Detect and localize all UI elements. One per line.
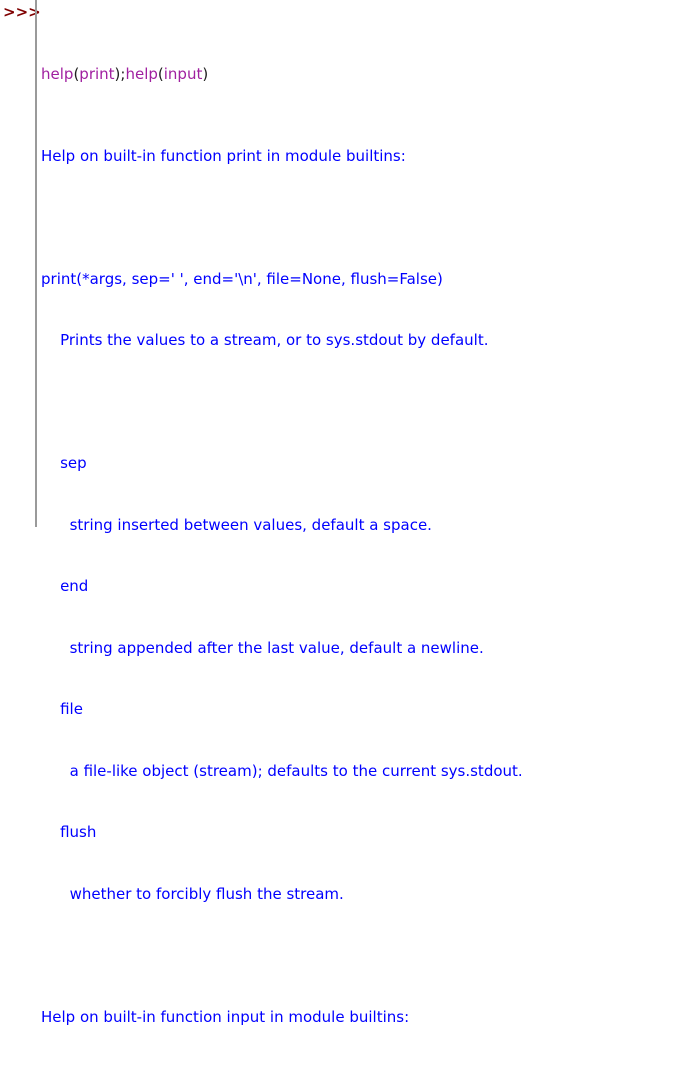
output-line: sep <box>41 453 697 474</box>
output-line: Help on built-in function input in modul… <box>41 1007 697 1028</box>
input-line-paren-close: ) <box>202 65 208 83</box>
output-line: whether to forcibly flush the stream. <box>41 884 697 905</box>
input-line-close-semi: ); <box>115 65 126 83</box>
output-line <box>41 392 697 413</box>
prompt-gutter: >>> <box>0 0 35 536</box>
output-line <box>41 945 697 966</box>
python-shell-window[interactable]: >>> help(print);help(input) Help on buil… <box>0 0 697 536</box>
input-line-help-2: help <box>125 65 157 83</box>
output-line: file <box>41 699 697 720</box>
input-line-input: input <box>164 65 203 83</box>
input-line-print: print <box>79 65 114 83</box>
output-line <box>41 1068 697 1072</box>
output-line <box>41 207 697 228</box>
gutter-separator-rule <box>35 0 37 527</box>
output-line: Help on built-in function print in modul… <box>41 146 697 167</box>
shell-transcript[interactable]: help(print);help(input) Help on built-in… <box>41 2 697 1072</box>
input-line[interactable]: help(print);help(input) <box>41 64 697 85</box>
output-line: string inserted between values, default … <box>41 515 697 536</box>
output-line: end <box>41 576 697 597</box>
output-line: flush <box>41 822 697 843</box>
output-line: Prints the values to a stream, or to sys… <box>41 330 697 351</box>
output-line: a file-like object (stream); defaults to… <box>41 761 697 782</box>
input-line-help-1: help <box>41 65 73 83</box>
output-line: print(*args, sep=' ', end='\n', file=Non… <box>41 269 697 290</box>
output-line: string appended after the last value, de… <box>41 638 697 659</box>
